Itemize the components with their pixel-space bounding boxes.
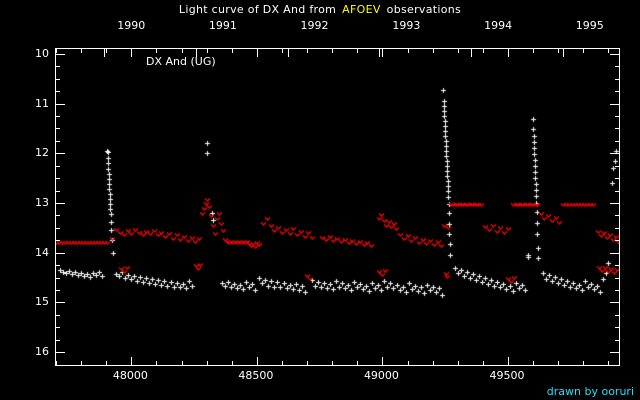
axis-tick: [81, 49, 82, 53]
top-axis-year-label: 1993: [392, 19, 420, 32]
axis-tick: [610, 302, 619, 303]
y-axis-tick-label: 12: [35, 147, 49, 158]
axis-tick: [382, 357, 383, 365]
axis-tick: [282, 361, 283, 365]
axis-tick: [583, 361, 584, 365]
y-axis-tick-label: 16: [35, 346, 49, 357]
axis-tick: [131, 49, 132, 57]
axis-tick: [182, 49, 183, 53]
axis-tick: [56, 302, 65, 303]
axis-tick: [615, 327, 619, 328]
axis-tick: [56, 361, 57, 365]
y-axis-tick-label: 14: [35, 247, 49, 258]
axis-tick: [408, 49, 409, 53]
axis-tick: [483, 49, 484, 53]
axis-tick: [56, 79, 60, 80]
x-axis-labels: 48000485004900049500: [55, 369, 620, 385]
axis-tick: [56, 153, 65, 154]
title-text-leading: Light curve of DX And from: [179, 3, 336, 16]
y-axis-tick-label: 13: [35, 197, 49, 208]
axis-tick: [379, 49, 380, 57]
axis-tick: [615, 278, 619, 279]
axis-tick: [257, 49, 258, 57]
axis-tick: [207, 361, 208, 365]
axis-tick: [131, 357, 132, 365]
axis-tick: [56, 265, 60, 266]
axis-tick: [307, 49, 308, 53]
axis-tick: [56, 203, 65, 204]
top-axis-year-label: 1995: [576, 19, 604, 32]
y-axis-tick-label: 10: [35, 48, 49, 59]
axis-tick: [56, 116, 60, 117]
axis-tick: [608, 49, 609, 53]
axis-tick: [615, 315, 619, 316]
light-curve-figure: Light curve of DX And fromAFOEVobservati…: [0, 0, 640, 400]
axis-tick: [357, 361, 358, 365]
axis-tick: [56, 66, 60, 67]
axis-tick: [615, 290, 619, 291]
axis-tick: [307, 361, 308, 365]
plot-area: DX And (UG): [55, 48, 620, 366]
axis-tick: [56, 290, 60, 291]
axis-tick: [56, 278, 60, 279]
axis-tick: [332, 361, 333, 365]
axis-tick: [458, 49, 459, 53]
axis-tick: [615, 265, 619, 266]
axis-tick: [332, 49, 333, 53]
axis-tick: [433, 49, 434, 53]
axis-tick: [615, 141, 619, 142]
axis-tick: [288, 49, 289, 57]
axis-tick: [563, 49, 564, 57]
x-axis-tick-label: 48500: [238, 369, 273, 382]
axis-tick: [615, 166, 619, 167]
axis-tick: [207, 49, 208, 53]
axis-tick: [610, 104, 619, 105]
x-axis-tick-label: 49500: [490, 369, 525, 382]
x-axis-tick-label: 48000: [113, 369, 148, 382]
axis-tick: [56, 315, 60, 316]
top-axis-year-label: 1990: [117, 19, 145, 32]
axis-tick: [615, 240, 619, 241]
axis-tick: [156, 49, 157, 53]
axis-tick: [56, 54, 65, 55]
axis-tick: [610, 203, 619, 204]
axis-tick: [508, 357, 509, 365]
axis-tick: [56, 253, 65, 254]
axis-tick: [458, 361, 459, 365]
axis-tick: [56, 352, 65, 353]
axis-tick: [56, 49, 57, 53]
axis-tick: [615, 191, 619, 192]
axis-tick: [610, 253, 619, 254]
axis-tick: [433, 361, 434, 365]
axis-tick: [56, 215, 60, 216]
axis-tick: [615, 79, 619, 80]
axis-tick: [382, 49, 383, 57]
axis-tick: [106, 49, 107, 53]
axis-tick: [56, 141, 60, 142]
axis-tick: [508, 49, 509, 57]
top-axis-year-label: 1992: [301, 19, 329, 32]
x-axis-tick-label: 49000: [364, 369, 399, 382]
axis-tick: [104, 49, 105, 57]
axis-tick: [615, 340, 619, 341]
axis-tick: [615, 215, 619, 216]
y-axis-labels: 10111213141516: [0, 48, 49, 366]
axis-tick: [56, 240, 60, 241]
axis-tick: [81, 361, 82, 365]
axis-tick: [615, 128, 619, 129]
axis-tick: [56, 128, 60, 129]
axis-tick: [56, 104, 65, 105]
axis-tick: [56, 178, 60, 179]
title-accent-afoev: AFOEV: [342, 3, 381, 16]
axis-tick: [533, 49, 534, 53]
axis-tick: [232, 361, 233, 365]
axis-tick: [257, 357, 258, 365]
axis-tick: [558, 361, 559, 365]
axis-tick: [56, 166, 60, 167]
axis-tick: [232, 49, 233, 53]
axis-tick: [608, 361, 609, 365]
axis-tick: [56, 91, 60, 92]
axis-tick: [615, 228, 619, 229]
top-axis-year-label: 1991: [209, 19, 237, 32]
axis-tick: [610, 54, 619, 55]
axis-tick: [558, 49, 559, 53]
title-text-trailing: observations: [387, 3, 461, 16]
author-credit: drawn by ooruri: [547, 385, 634, 398]
axis-tick: [610, 352, 619, 353]
top-axis-year-labels: 199019911992199319941995: [55, 19, 620, 34]
axis-tick: [357, 49, 358, 53]
axis-tick: [56, 228, 60, 229]
top-axis-year-label: 1994: [484, 19, 512, 32]
axis-tick: [56, 340, 60, 341]
axis-tick: [615, 116, 619, 117]
axis-tick: [610, 153, 619, 154]
axis-tick: [156, 361, 157, 365]
axis-tick: [56, 191, 60, 192]
axis-tick: [471, 49, 472, 57]
y-axis-tick-label: 15: [35, 296, 49, 307]
axis-tick: [615, 178, 619, 179]
data-points-canvas: [56, 49, 620, 366]
axis-tick: [106, 361, 107, 365]
axis-tick: [282, 49, 283, 53]
axis-tick: [196, 49, 197, 57]
axis-tick: [182, 361, 183, 365]
axis-tick: [408, 361, 409, 365]
axis-tick: [56, 327, 60, 328]
axis-tick: [483, 361, 484, 365]
axis-tick: [583, 49, 584, 53]
figure-title: Light curve of DX And fromAFOEVobservati…: [0, 3, 640, 16]
axis-tick: [615, 91, 619, 92]
axis-tick: [615, 66, 619, 67]
axis-tick: [533, 361, 534, 365]
series-legend-label: DX And (UG): [146, 55, 216, 68]
y-axis-tick-label: 11: [35, 98, 49, 109]
